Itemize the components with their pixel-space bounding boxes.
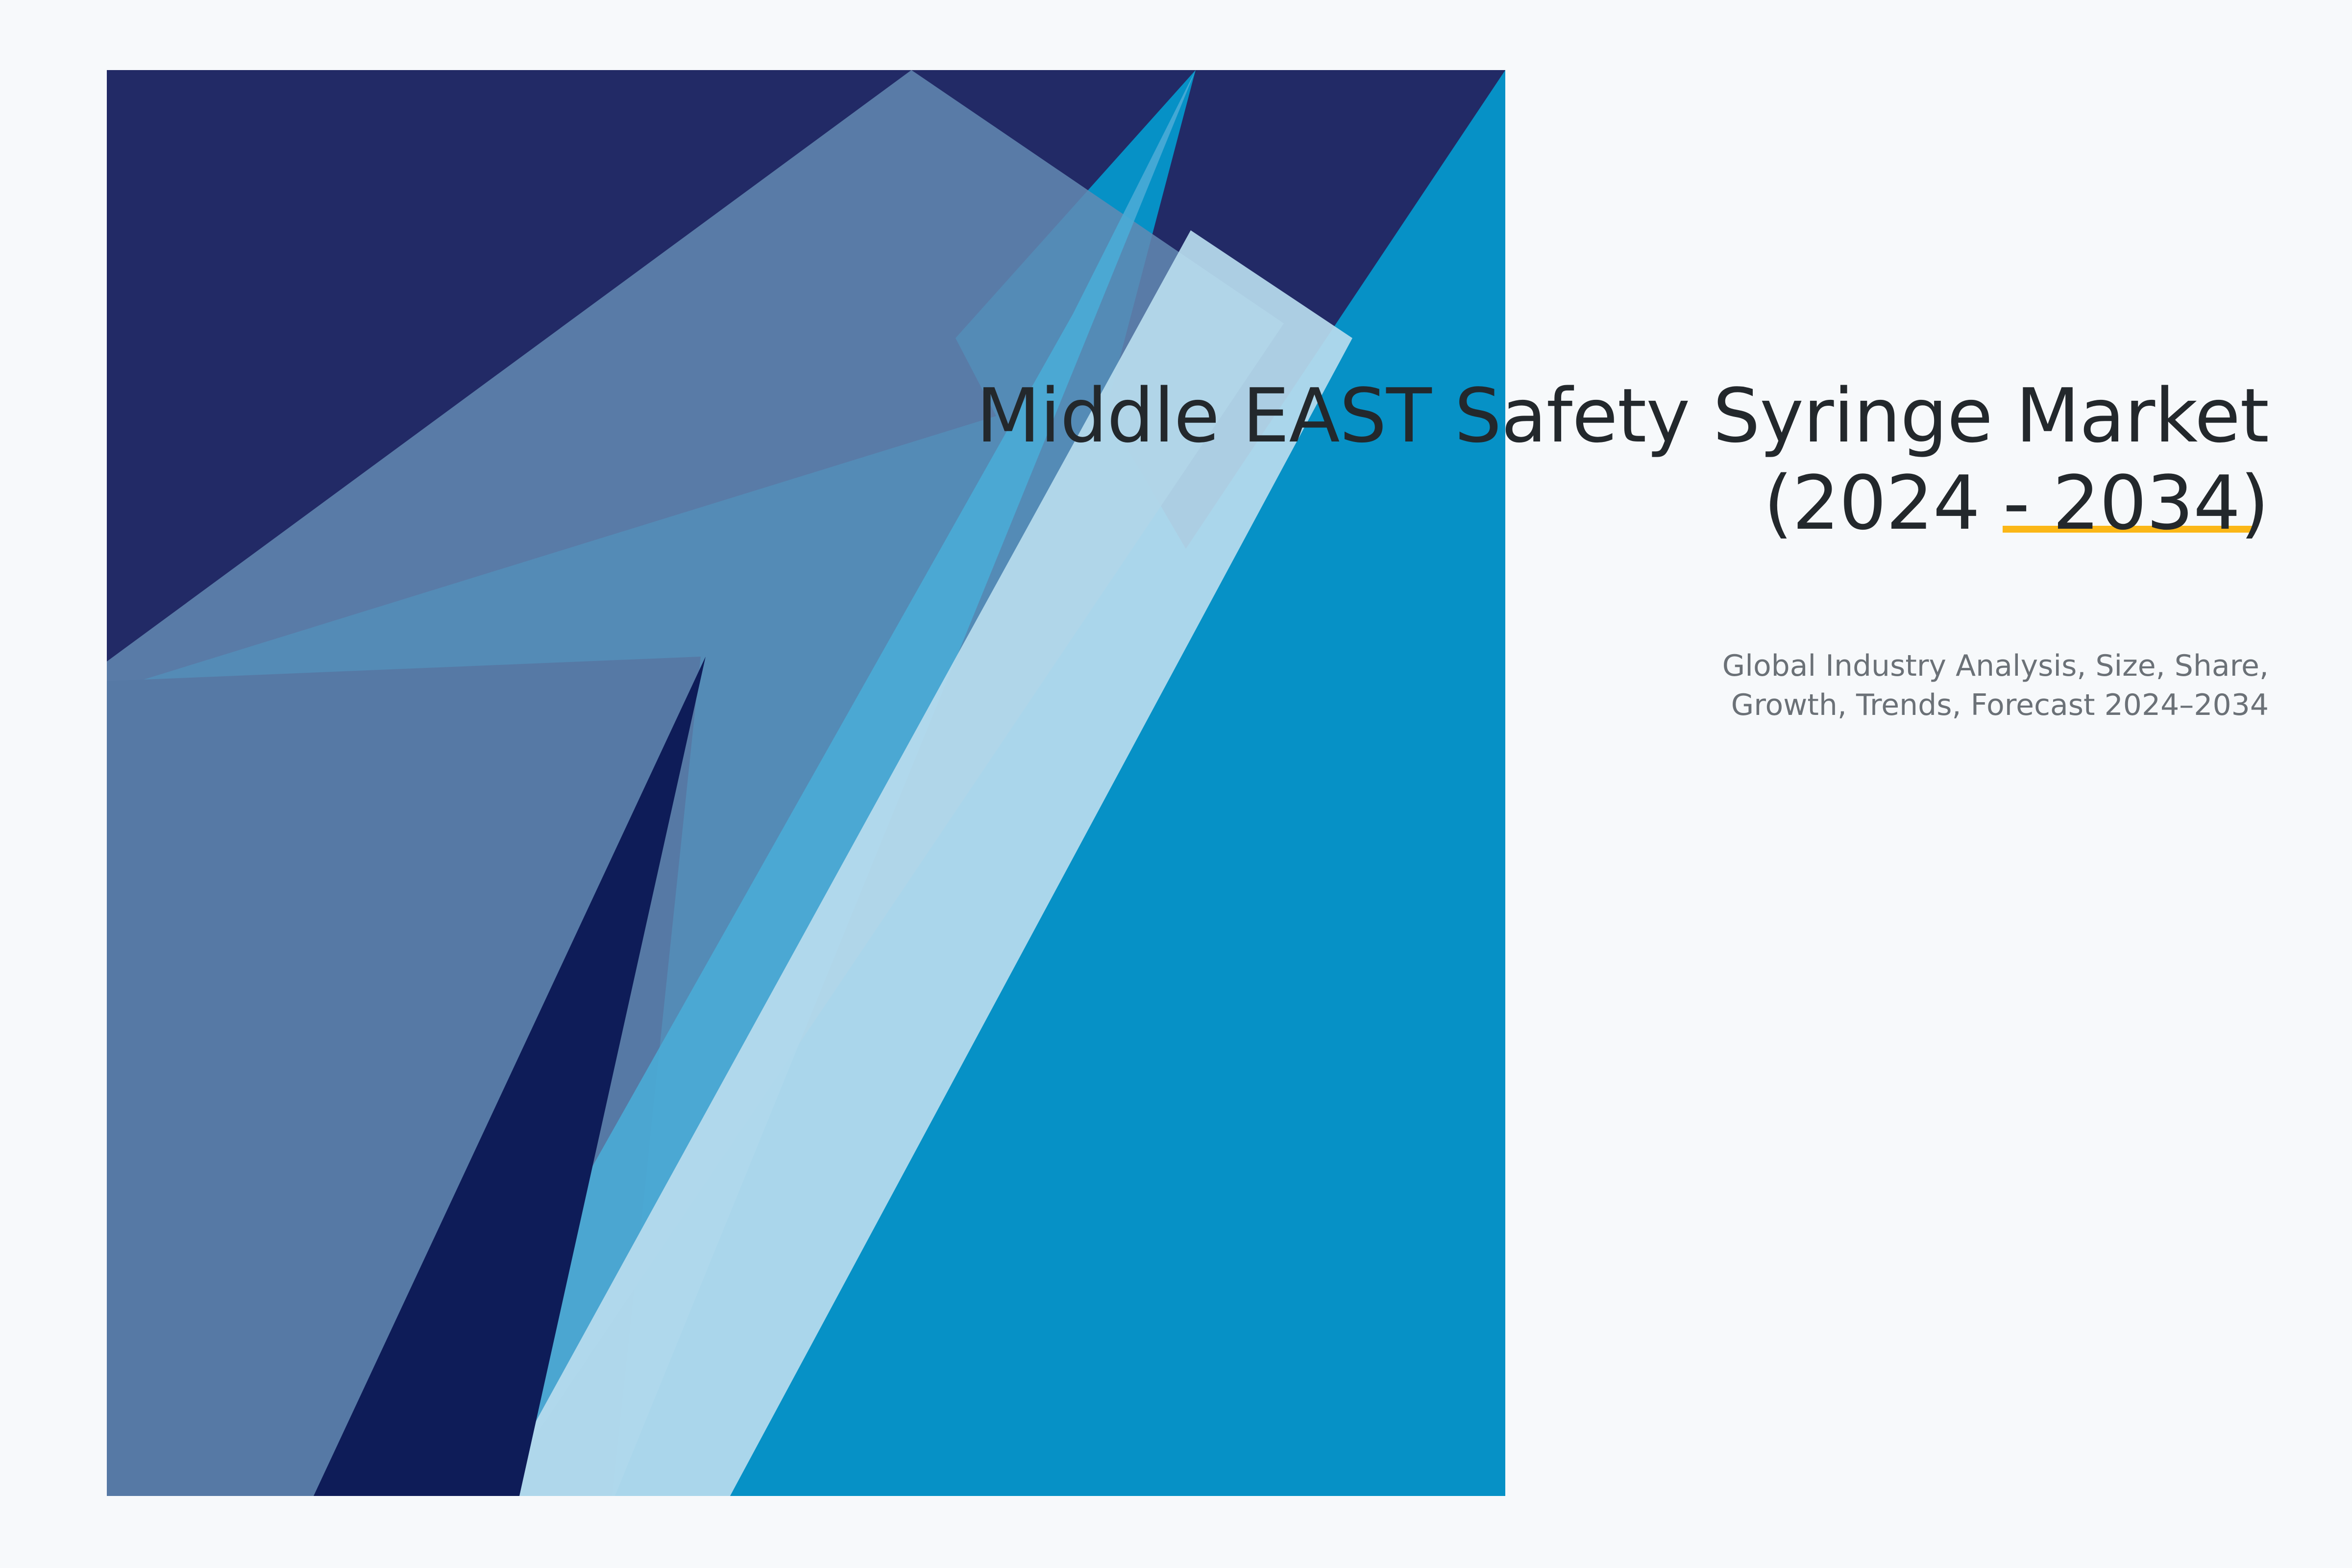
steel-overlay — [107, 70, 1284, 1496]
abstract-geometric-cover-graphic — [0, 0, 2352, 1568]
page-subtitle: Global Industry Analysis, Size, Share, G… — [1421, 647, 2269, 725]
mid-blue-band — [407, 70, 1196, 1496]
cyan-field — [107, 70, 1505, 1496]
deep-navy-spike — [314, 657, 706, 1496]
deep-navy-lower-wedge — [107, 657, 701, 1496]
page-title: Middle EAST Safety Syringe Market (2024 … — [911, 372, 2269, 547]
report-cover: Middle EAST Safety Syringe Market (2024 … — [0, 0, 2352, 1568]
title-block: Middle EAST Safety Syringe Market (2024 … — [911, 372, 2269, 547]
